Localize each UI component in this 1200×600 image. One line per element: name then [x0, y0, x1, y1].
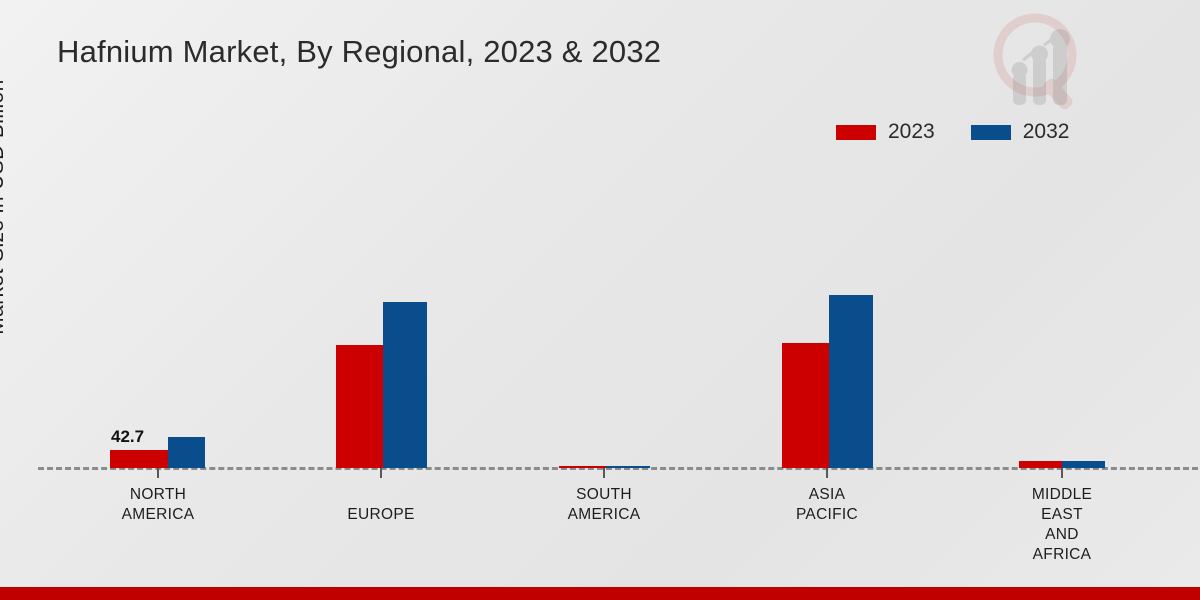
- category-line: AFRICA: [967, 545, 1157, 565]
- bars-middle-east-and-africa: [1019, 461, 1105, 468]
- bars-asia-pacific: [782, 295, 873, 468]
- bars-europe: [336, 302, 427, 468]
- bar-2023-middle-east-and-africa[interactable]: [1019, 461, 1062, 468]
- category-line: AMERICA: [509, 505, 699, 525]
- category-line: EUROPE: [286, 505, 476, 525]
- axis-tick-south-america: [603, 468, 605, 478]
- bar-2032-asia-pacific[interactable]: [829, 295, 873, 468]
- category-line: NORTH: [63, 485, 253, 505]
- category-line: MIDDLE: [967, 485, 1157, 505]
- category-label-middle-east-and-africa: MIDDLE EAST AND AFRICA: [967, 485, 1157, 565]
- category-label-north-america: NORTH AMERICA: [63, 485, 253, 525]
- category-label-asia-pacific: ASIA PACIFIC: [732, 485, 922, 525]
- plot-area: 42.7 NORTH AMERICA EUROPE: [0, 0, 1200, 600]
- axis-tick-europe: [380, 468, 382, 478]
- bar-2023-north-america[interactable]: [110, 450, 168, 468]
- axis-tick-middle-east-and-africa: [1061, 468, 1063, 478]
- category-label-south-america: SOUTH AMERICA: [509, 485, 699, 525]
- bar-2032-north-america[interactable]: [168, 437, 205, 468]
- bottom-accent-strip: [0, 587, 1200, 600]
- bar-2023-europe[interactable]: [336, 345, 383, 468]
- bar-2032-south-america[interactable]: [606, 466, 650, 468]
- bar-group-middle-east-and-africa: MIDDLE EAST AND AFRICA: [967, 0, 1157, 600]
- bar-2023-asia-pacific[interactable]: [782, 343, 829, 468]
- category-line: SOUTH: [509, 485, 699, 505]
- bar-group-asia-pacific: ASIA PACIFIC: [732, 0, 922, 600]
- bar-2032-europe[interactable]: [383, 302, 427, 468]
- category-line: ASIA: [732, 485, 922, 505]
- bar-group-europe: EUROPE: [286, 0, 476, 600]
- bar-group-south-america: SOUTH AMERICA: [509, 0, 699, 600]
- bar-2023-south-america[interactable]: [559, 466, 606, 468]
- axis-tick-north-america: [157, 468, 159, 478]
- category-line: AND: [967, 525, 1157, 545]
- category-line: EAST: [967, 505, 1157, 525]
- value-label-north-america-2023: 42.7: [111, 427, 144, 447]
- axis-tick-asia-pacific: [826, 468, 828, 478]
- chart-page: Hafnium Market, By Regional, 2023 & 2032…: [0, 0, 1200, 600]
- bar-2032-middle-east-and-africa[interactable]: [1062, 461, 1105, 468]
- bar-group-north-america: 42.7 NORTH AMERICA: [63, 0, 253, 600]
- category-line: AMERICA: [63, 505, 253, 525]
- category-line: PACIFIC: [732, 505, 922, 525]
- category-label-europe: EUROPE: [286, 505, 476, 525]
